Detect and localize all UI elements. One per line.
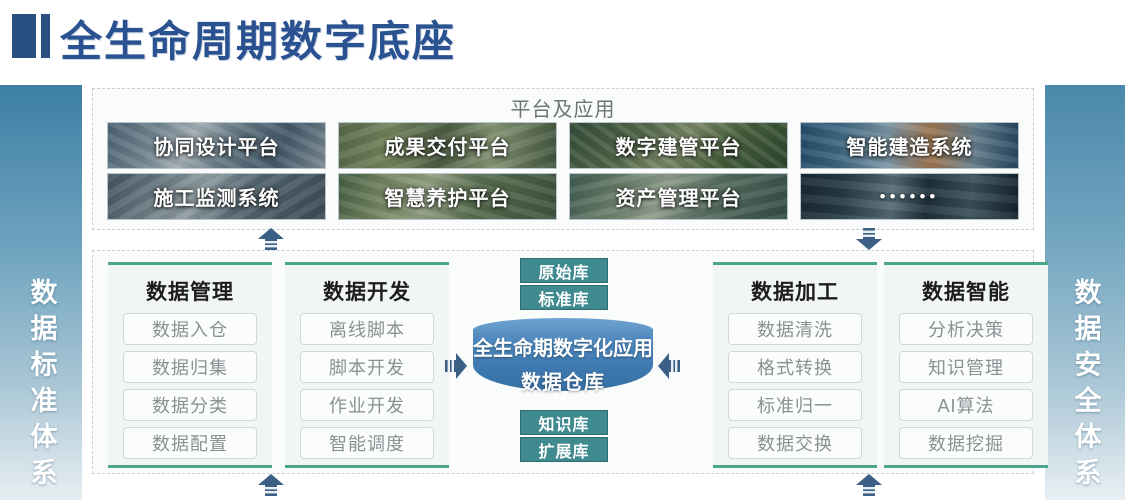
- title-marker-group: [12, 14, 50, 58]
- platform-card-label: 智能建造系统: [847, 131, 973, 160]
- data-cell[interactable]: 数据归集: [123, 351, 257, 383]
- cylinder-label-line2: 数据仓库: [473, 366, 653, 395]
- data-column-data-management: 数据管理 数据入仓 数据归集 数据分类 数据配置: [108, 262, 272, 468]
- platform-card-more-placeholder[interactable]: ••••••: [800, 173, 1019, 220]
- sidebar-left-data-standard-system: 数据标准体系: [0, 85, 82, 500]
- platform-card-asset-management[interactable]: 资产管理平台: [569, 173, 788, 220]
- data-column-title: 数据加工: [751, 276, 839, 306]
- arrow-up-bottom-right-icon: [856, 474, 882, 496]
- tag-raw-database[interactable]: 原始库: [520, 258, 608, 283]
- tag-extension-database[interactable]: 扩展库: [520, 437, 608, 462]
- page-title: 全生命周期数字底座: [60, 8, 456, 69]
- platform-panel-heading: 平台及应用: [93, 93, 1033, 122]
- platform-card-label: 协同设计平台: [154, 131, 280, 160]
- data-cell[interactable]: 格式转换: [728, 351, 862, 383]
- data-cell[interactable]: 分析决策: [899, 313, 1033, 345]
- data-cell[interactable]: 数据挖掘: [899, 427, 1033, 459]
- title-marker-large-icon: [12, 14, 36, 58]
- data-column-title: 数据开发: [323, 276, 411, 306]
- data-cell[interactable]: 数据交换: [728, 427, 862, 459]
- platform-card-ellipsis-label: ••••••: [880, 187, 940, 207]
- platform-card-collaborative-design[interactable]: 协同设计平台: [107, 122, 326, 169]
- platform-column-4: 智能建造系统 ••••••: [800, 122, 1019, 220]
- data-column-title: 数据管理: [146, 276, 234, 306]
- cylinder-label-line1: 全生命期数字化应用: [473, 332, 653, 361]
- sidebar-left-label: 数据标准体系: [28, 278, 55, 500]
- data-column-title: 数据智能: [922, 276, 1010, 306]
- sidebar-right-label: 数据安全体系: [1072, 278, 1099, 500]
- data-column-data-intelligence: 数据智能 分析决策 知识管理 AI算法 数据挖掘: [884, 262, 1048, 468]
- data-cell[interactable]: 脚本开发: [300, 351, 434, 383]
- data-cell[interactable]: 数据配置: [123, 427, 257, 459]
- data-cell[interactable]: AI算法: [899, 389, 1033, 421]
- platform-panel: 平台及应用 协同设计平台 施工监测系统 成果交付平台 智慧养护平台: [92, 88, 1034, 230]
- platform-card-smart-maintenance[interactable]: 智慧养护平台: [338, 173, 557, 220]
- platform-card-label: 成果交付平台: [385, 131, 511, 160]
- arrow-up-left-icon: [258, 228, 284, 250]
- platform-card-intelligent-construction-system[interactable]: 智能建造系统: [800, 122, 1019, 169]
- arrow-up-bottom-left-icon: [258, 474, 284, 496]
- slide-root: 全生命周期数字底座 数据标准体系 数据安全体系 平台及应用 协同设计平台 施工监…: [0, 0, 1125, 500]
- arrow-left-into-warehouse-icon: [658, 353, 680, 379]
- platform-column-2: 成果交付平台 智慧养护平台: [338, 122, 557, 220]
- data-cell[interactable]: 数据入仓: [123, 313, 257, 345]
- platform-column-1: 协同设计平台 施工监测系统: [107, 122, 326, 220]
- tag-standard-database[interactable]: 标准库: [520, 285, 608, 310]
- data-cell[interactable]: 标准归一: [728, 389, 862, 421]
- data-column-data-development: 数据开发 离线脚本 脚本开发 作业开发 智能调度: [285, 262, 449, 468]
- data-cell[interactable]: 知识管理: [899, 351, 1033, 383]
- data-warehouse-cylinder[interactable]: 全生命期数字化应用 数据仓库: [473, 318, 653, 402]
- data-column-data-processing: 数据加工 数据清洗 格式转换 标准归一 数据交换: [713, 262, 877, 468]
- data-cell[interactable]: 数据清洗: [728, 313, 862, 345]
- title-marker-small-icon: [41, 14, 50, 58]
- title-bar: 全生命周期数字底座: [0, 0, 1125, 84]
- arrow-right-into-warehouse-icon: [445, 353, 467, 379]
- data-cell[interactable]: 离线脚本: [300, 313, 434, 345]
- platform-card-digital-construction-management[interactable]: 数字建管平台: [569, 122, 788, 169]
- platform-card-label: 资产管理平台: [616, 182, 742, 211]
- platform-card-label: 施工监测系统: [154, 182, 280, 211]
- data-cell[interactable]: 作业开发: [300, 389, 434, 421]
- platform-card-label: 数字建管平台: [616, 131, 742, 160]
- arrow-down-right-icon: [856, 228, 882, 250]
- sidebar-right-data-security-system: 数据安全体系: [1045, 85, 1125, 500]
- data-cell[interactable]: 数据分类: [123, 389, 257, 421]
- platform-card-grid: 协同设计平台 施工监测系统 成果交付平台 智慧养护平台 数字建管平台: [107, 122, 1019, 220]
- platform-card-label: 智慧养护平台: [385, 182, 511, 211]
- tag-knowledge-database[interactable]: 知识库: [520, 410, 608, 435]
- platform-column-3: 数字建管平台 资产管理平台: [569, 122, 788, 220]
- data-cell[interactable]: 智能调度: [300, 427, 434, 459]
- platform-card-construction-monitoring[interactable]: 施工监测系统: [107, 173, 326, 220]
- platform-card-deliverable-delivery[interactable]: 成果交付平台: [338, 122, 557, 169]
